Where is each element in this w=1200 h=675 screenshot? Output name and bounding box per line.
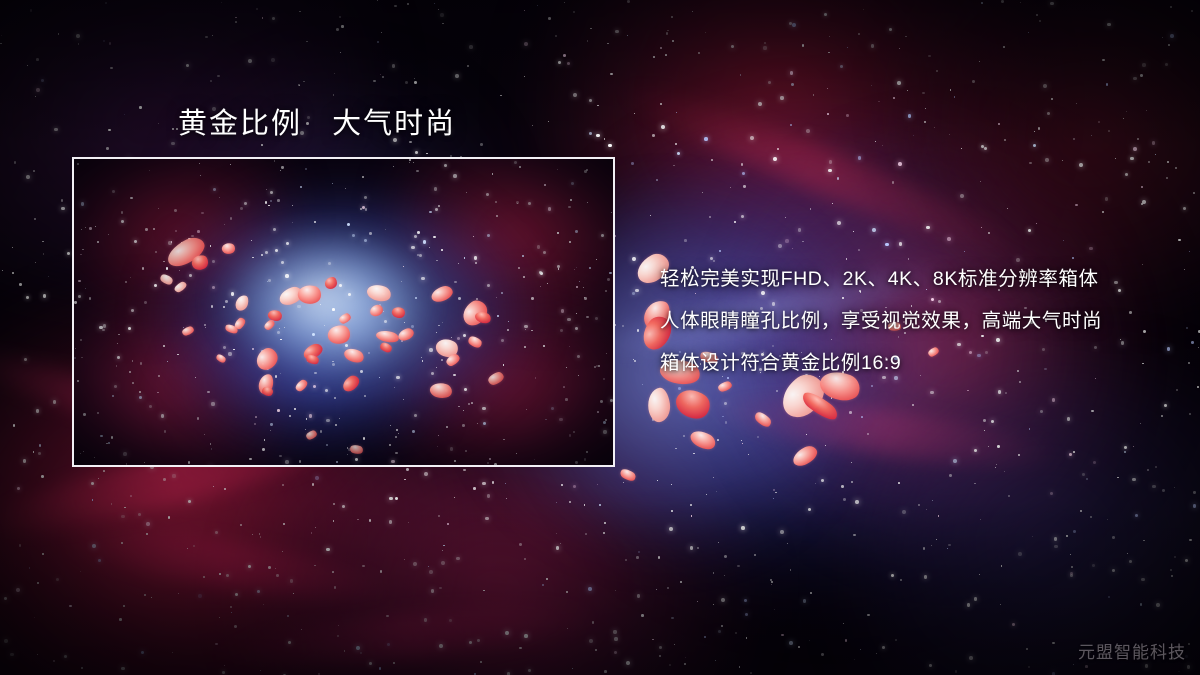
body-line: 轻松完美实现FHD、2K、4K、8K标准分辨率箱体 <box>660 258 1180 300</box>
framed-image <box>72 157 615 467</box>
body-line: 人体眼睛瞳孔比例，享受视觉效果，高端大气时尚 <box>660 300 1180 342</box>
body-text-block: 轻松完美实现FHD、2K、4K、8K标准分辨率箱体 人体眼睛瞳孔比例，享受视觉效… <box>660 258 1180 384</box>
body-line: 箱体设计符合黄金比例16:9 <box>660 342 1180 384</box>
slide-canvas: 黄金比例 大气时尚 轻松完美实现FHD、2K、4K、8K标准分辨率箱体 人体眼睛… <box>0 0 1200 675</box>
page-title: 黄金比例 大气时尚 <box>178 100 456 142</box>
framed-image-content <box>74 159 613 465</box>
watermark: 元盟智能科技 <box>1078 638 1186 663</box>
